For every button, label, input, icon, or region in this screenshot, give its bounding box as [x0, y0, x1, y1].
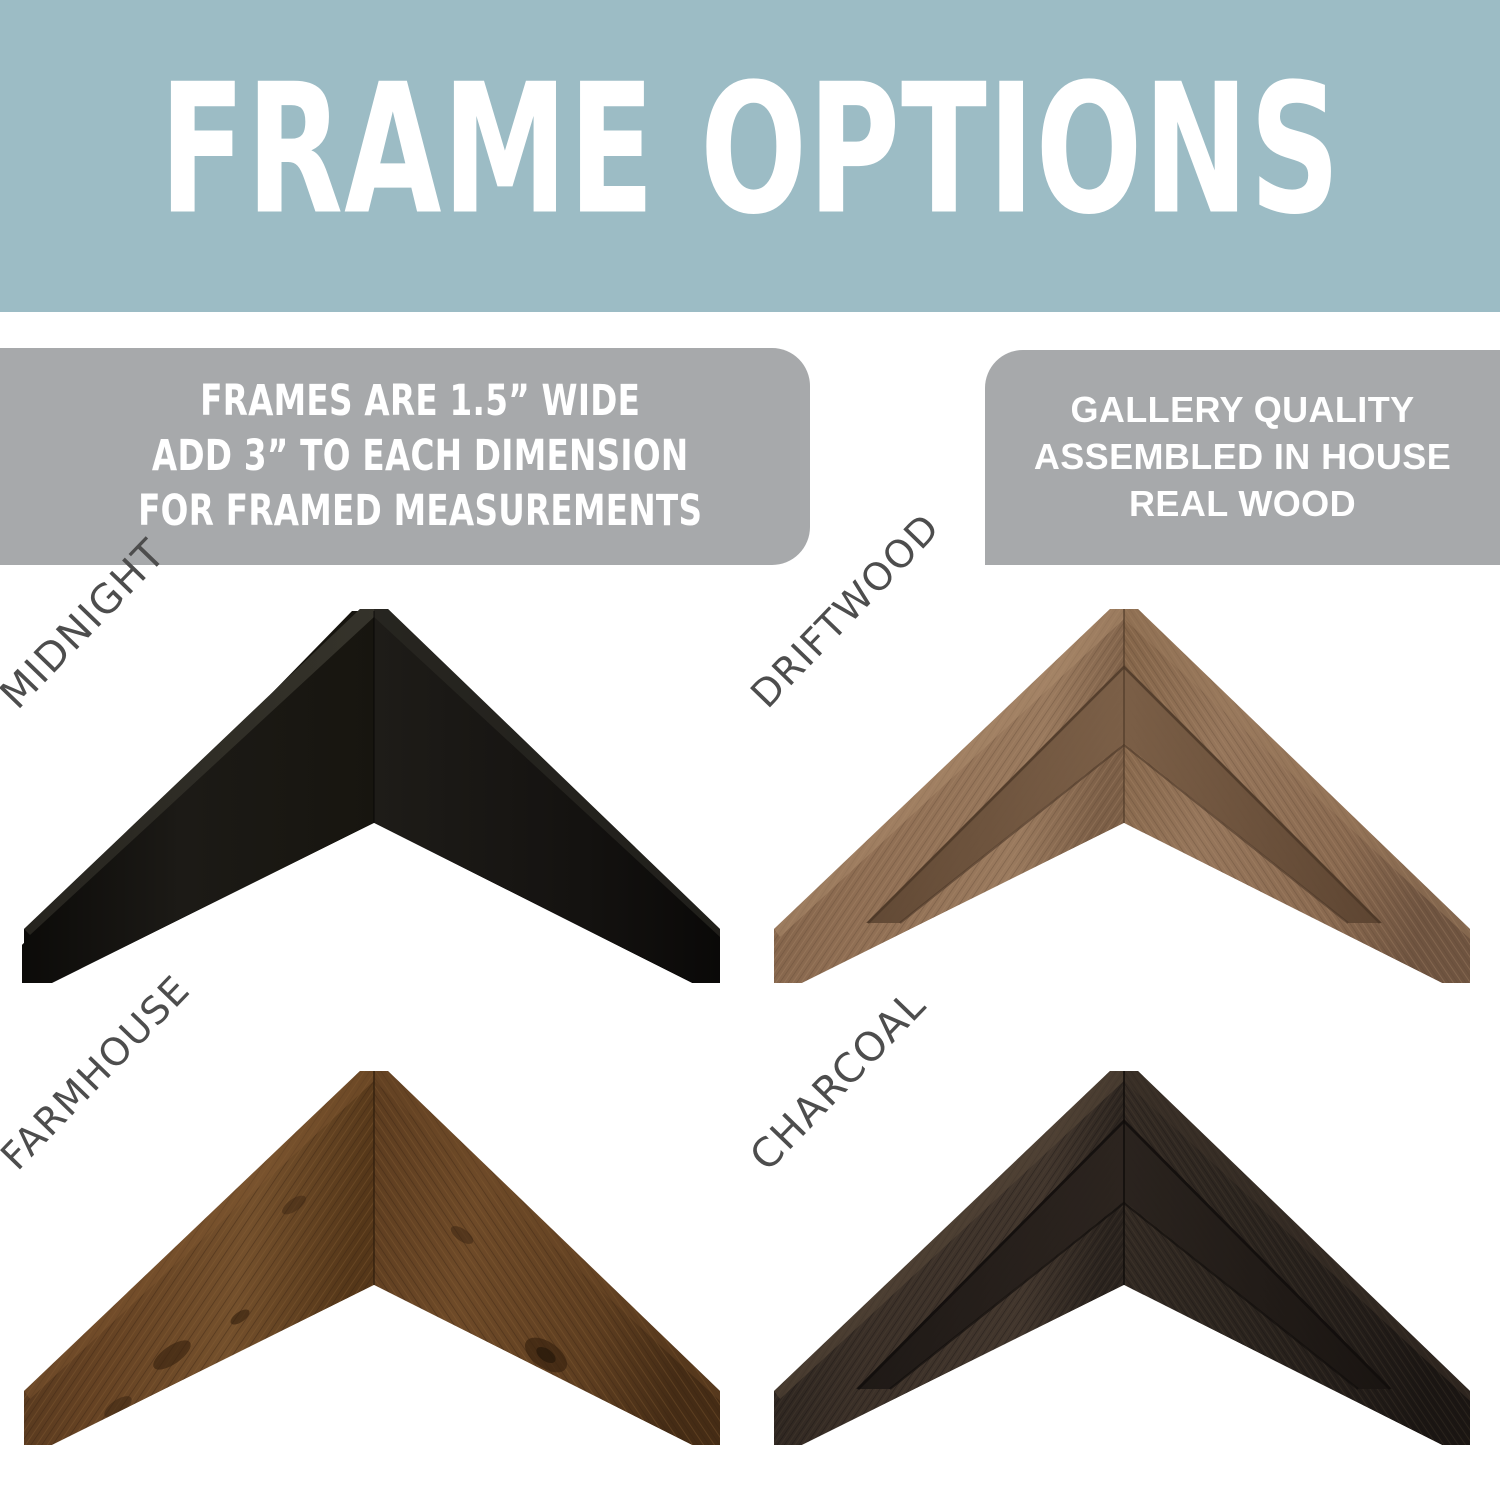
frame-option-midnight[interactable]: MIDNIGHT: [0, 575, 750, 1037]
charcoal-frame-corner-icon: [772, 1055, 1472, 1445]
quality-note-text: GALLERY QUALITY ASSEMBLED IN HOUSE REAL …: [1034, 387, 1451, 527]
frame-option-driftwood[interactable]: DRIFTWOOD: [750, 575, 1500, 1037]
quality-note-banner: GALLERY QUALITY ASSEMBLED IN HOUSE REAL …: [985, 350, 1500, 565]
header-banner: FRAME OPTIONS: [0, 0, 1500, 312]
midnight-frame-corner-icon: [22, 593, 722, 983]
frame-option-farmhouse[interactable]: FARMHOUSE: [0, 1037, 750, 1499]
frame-options-grid: MIDNIGHT: [0, 575, 1500, 1500]
frame-sizing-note-banner: FRAMES ARE 1.5” WIDE ADD 3” TO EACH DIME…: [0, 348, 810, 565]
farmhouse-frame-corner-icon: [22, 1055, 722, 1445]
frame-option-charcoal[interactable]: CHARCOAL: [750, 1037, 1500, 1499]
driftwood-frame-corner-icon: [772, 593, 1472, 983]
page-title: FRAME OPTIONS: [159, 60, 1341, 251]
frame-sizing-note-text: FRAMES ARE 1.5” WIDE ADD 3” TO EACH DIME…: [108, 374, 702, 539]
